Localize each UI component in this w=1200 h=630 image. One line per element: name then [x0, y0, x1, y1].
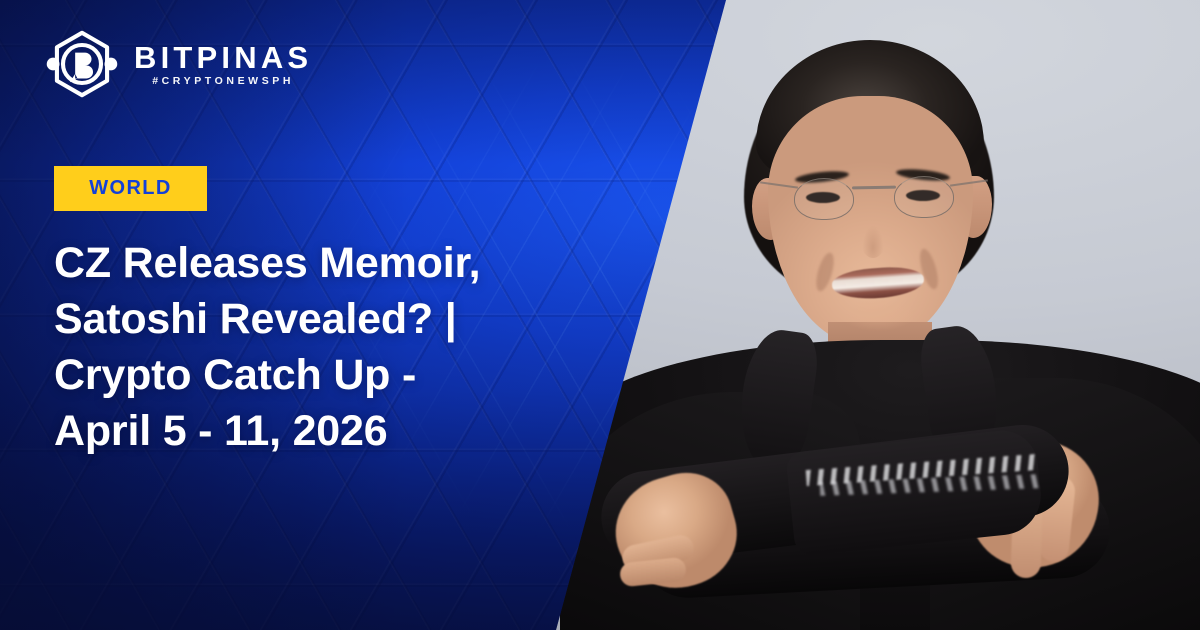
category-badge[interactable]: WORLD — [54, 166, 207, 211]
eyeglasses-lens-left — [794, 178, 854, 220]
logo-tagline: #CRYPTONEWSPH — [152, 76, 294, 87]
bitpinas-hexagon-b-logo-icon — [44, 26, 120, 102]
headline-line-1: CZ Releases Memoir, — [54, 236, 574, 292]
category-badge-label: WORLD — [89, 177, 172, 200]
social-card: BITPINAS #CRYPTONEWSPH WORLD CZ Releases… — [0, 0, 1200, 630]
subject-nose — [858, 206, 888, 258]
headline-line-3: Crypto Catch Up - — [54, 348, 574, 404]
logo-brand-name: BITPINAS — [134, 42, 312, 73]
logo-wordmark: BITPINAS #CRYPTONEWSPH — [134, 42, 312, 87]
subject-chin — [828, 300, 928, 346]
headline-line-4: April 5 - 11, 2026 — [54, 404, 574, 460]
bitpinas-logo[interactable]: BITPINAS #CRYPTONEWSPH — [44, 26, 312, 102]
eyeglasses-lens-right — [894, 176, 954, 218]
headline-line-2: Satoshi Revealed? | — [54, 292, 574, 348]
headline-title: CZ Releases Memoir, Satoshi Revealed? | … — [54, 236, 574, 460]
